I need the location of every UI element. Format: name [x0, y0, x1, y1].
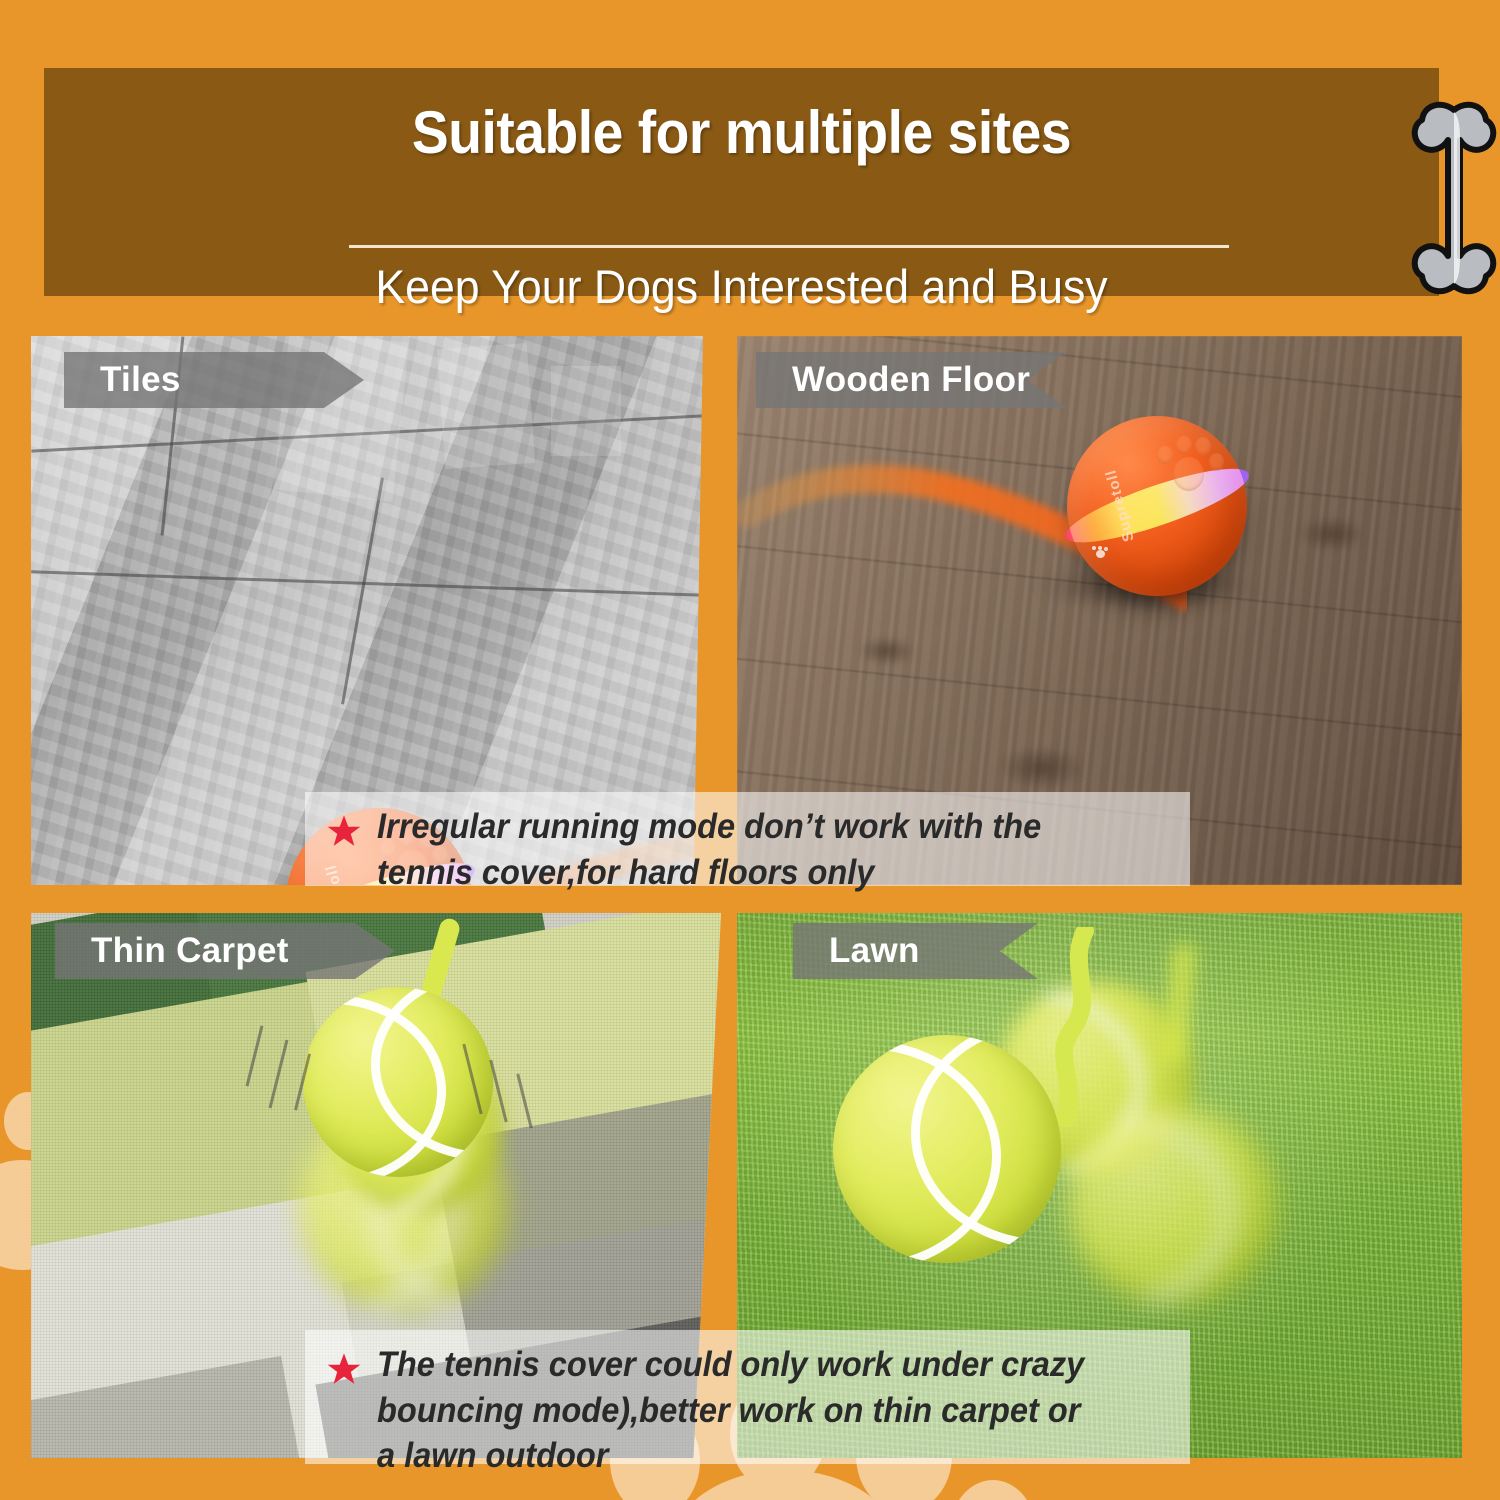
label-lawn-text: Lawn — [793, 931, 920, 971]
header-banner: Suitable for multiple sites Keep Your Do… — [44, 68, 1439, 296]
label-thin-carpet-text: Thin Carpet — [55, 931, 289, 971]
caption-line: bouncing mode),better work on thin carpe… — [377, 1388, 1084, 1434]
caption-tennis-cover: The tennis cover could only work under c… — [305, 1330, 1190, 1464]
page-subtitle: Keep Your Dogs Interested and Busy — [79, 259, 1404, 314]
star-bullet-icon — [327, 814, 361, 848]
caption-line: tennis cover,for hard floors only — [377, 850, 1041, 896]
caption-tennis-cover-text: The tennis cover could only work under c… — [377, 1342, 1084, 1448]
caption-line: a lawn outdoor — [377, 1433, 1084, 1479]
product-infographic: Suitable for multiple sites Keep Your Do… — [0, 0, 1500, 1500]
label-wooden-floor-text: Wooden Floor — [756, 360, 1030, 400]
label-thin-carpet: Thin Carpet — [55, 923, 395, 979]
paw-emboss-icon — [1155, 436, 1223, 497]
label-wooden-floor: Wooden Floor — [756, 352, 1066, 408]
caption-line: Irregular running mode don’t work with t… — [377, 804, 1041, 850]
label-tiles-text: Tiles — [64, 360, 181, 400]
caption-hard-floors-text: Irregular running mode don’t work with t… — [377, 804, 1041, 870]
orange-smart-ball: Supretoll — [1067, 416, 1247, 596]
title-divider — [349, 245, 1229, 248]
page-title: Suitable for multiple sites — [100, 98, 1383, 167]
star-bullet-icon — [327, 1352, 361, 1386]
tennis-ball-motion-ghost — [1067, 1105, 1277, 1305]
tennis-ball-cover — [303, 987, 493, 1177]
tennis-ball-cover — [833, 1035, 1061, 1263]
bone-icon — [1408, 96, 1500, 301]
caption-line: The tennis cover could only work under c… — [377, 1342, 1084, 1388]
label-tiles: Tiles — [64, 352, 364, 408]
mini-paw-icon — [1092, 546, 1108, 559]
caption-hard-floors: Irregular running mode don’t work with t… — [305, 792, 1190, 886]
